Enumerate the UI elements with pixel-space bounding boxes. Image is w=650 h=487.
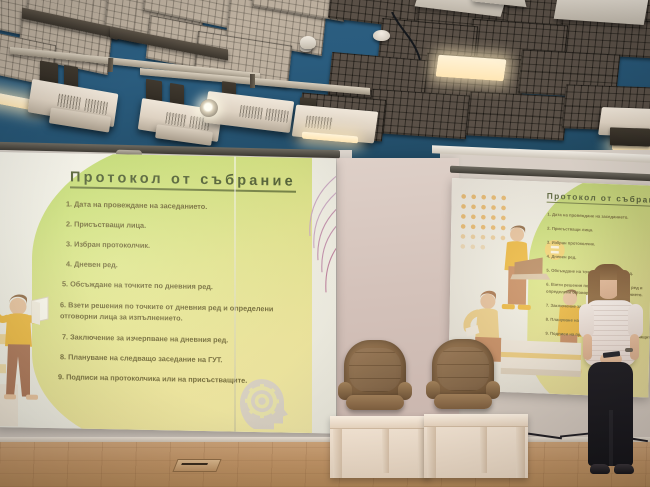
illustration-podium — [501, 330, 586, 381]
screen-seam — [234, 157, 236, 432]
presenter-sleeve-right — [628, 304, 643, 338]
ceiling-speaker — [300, 36, 316, 49]
list-item: 4. Дневен ред. — [66, 259, 296, 272]
list-item: 2. Присъстващи лица. — [547, 226, 650, 235]
table-leg — [516, 427, 525, 478]
list-item: 7. Заключение за изчерпване на дневния р… — [62, 332, 296, 345]
illustration-person-holding-book — [0, 272, 52, 433]
table-leg — [382, 429, 389, 473]
ceiling-cable — [380, 12, 450, 82]
wooden-table-right[interactable] — [424, 414, 528, 478]
wooden-table-left[interactable] — [330, 416, 430, 478]
projection-screen-left: Протокол от събрание 1. Дата на провежда… — [0, 152, 336, 434]
floor — [0, 442, 650, 487]
table-leg — [333, 429, 342, 478]
presenter-trousers — [588, 362, 633, 466]
ceiling — [0, 0, 650, 168]
list-item: 2. Присъстващи лица. — [66, 219, 296, 232]
table-leg — [480, 427, 487, 473]
presenter-forearm-right — [630, 334, 639, 360]
list-item: 6. Взети решения по точките от дневния р… — [60, 299, 278, 326]
chair-seat — [346, 395, 403, 410]
slide-list: 1. Дата на провеждане на заседанието. 2.… — [66, 199, 296, 385]
list-item: 5. Обсъждане на точките по дневния ред. — [62, 279, 296, 292]
table-top — [424, 414, 528, 427]
list-item: 3. Избран протоколчик. — [547, 240, 650, 249]
presentation-room-photo: Протокол от събрание 1. Дата на провежда… — [0, 0, 650, 487]
chair-backrest — [344, 340, 406, 398]
presenter — [578, 262, 644, 487]
list-item: 3. Избран протоколчик. — [66, 239, 296, 252]
presenter-watch — [625, 348, 633, 352]
slide-left: Протокол от събрание 1. Дата на провежда… — [0, 152, 336, 434]
leather-armchair-left[interactable] — [344, 340, 406, 428]
presenter-shoe-right — [614, 464, 634, 474]
chair-backrest — [432, 339, 494, 397]
presenter-shoe-left — [590, 464, 610, 474]
list-item: 8. Плануване на следващо заседание на ГУ… — [60, 352, 296, 366]
presenter-sleeve-left — [579, 304, 594, 338]
table-top — [330, 416, 430, 429]
chair-seat — [434, 394, 491, 409]
table-leg — [427, 427, 436, 478]
presenter-forearm-left — [583, 334, 592, 360]
floor-socket-plate — [172, 459, 221, 472]
